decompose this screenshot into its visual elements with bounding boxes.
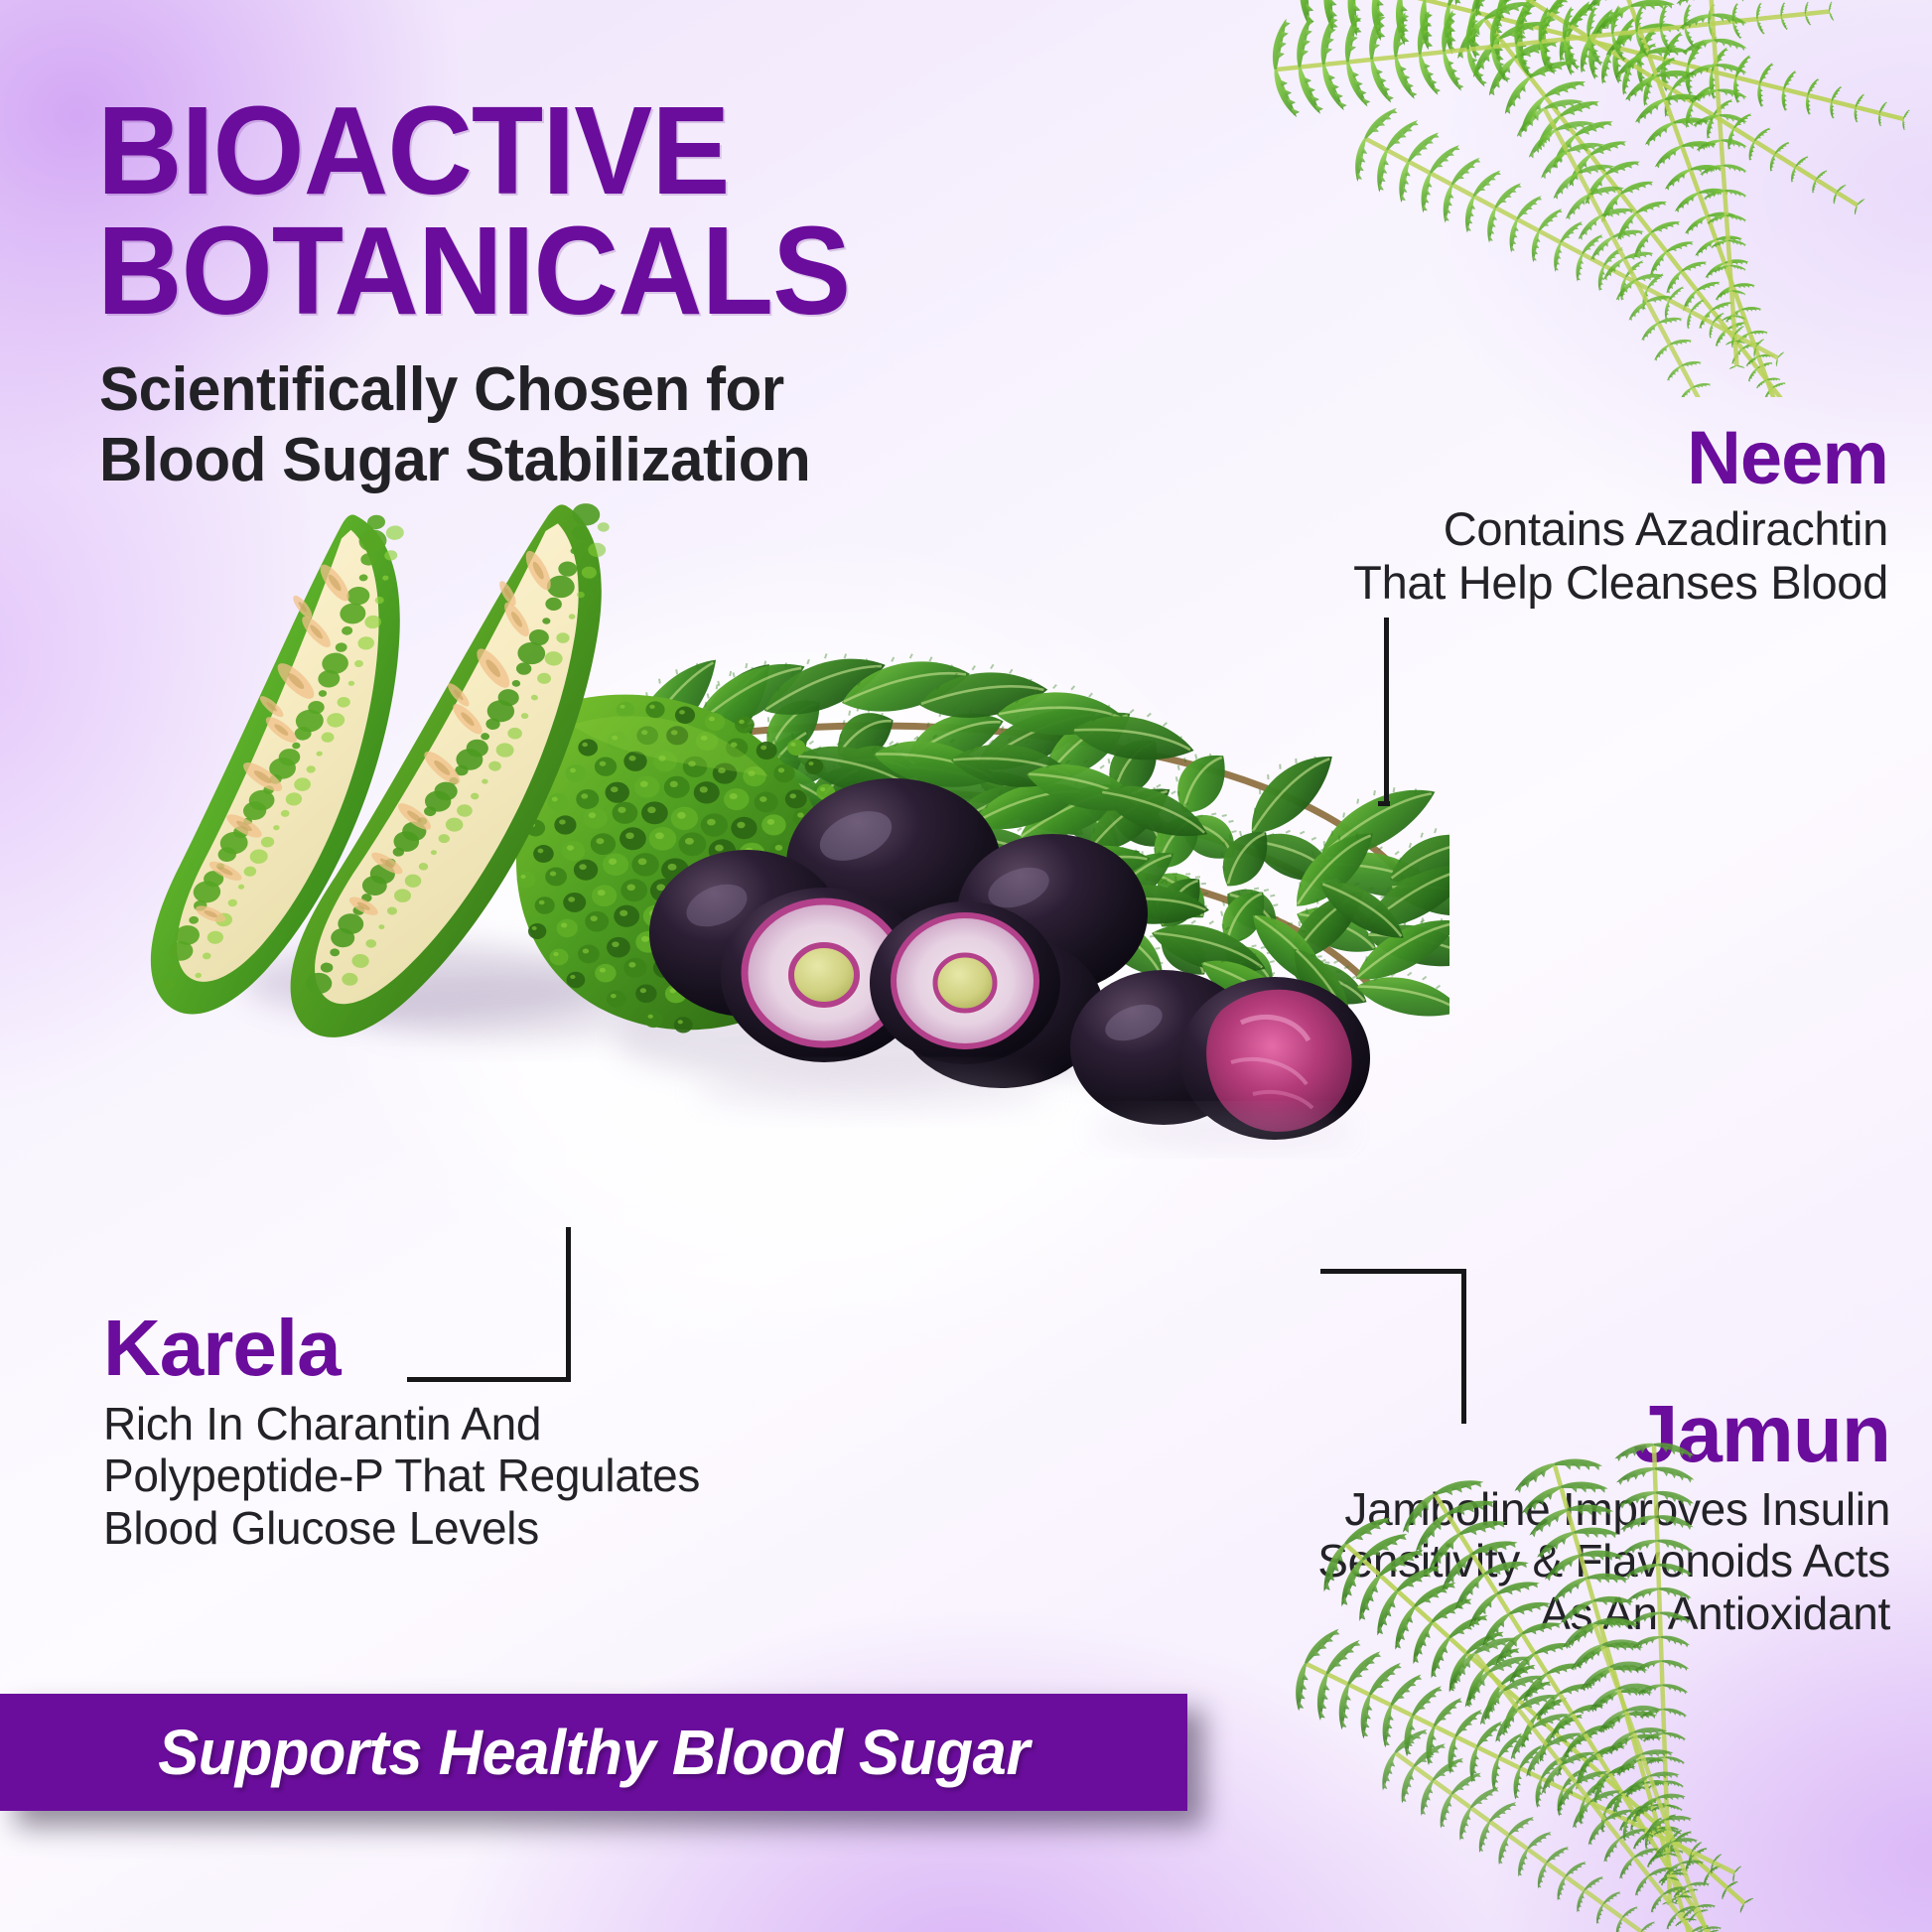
callout-neem: Neem Contains Azadirachtin That Help Cle… bbox=[1253, 421, 1888, 609]
callout-karela-desc-line-3: Blood Glucose Levels bbox=[103, 1502, 788, 1554]
callout-karela-description: Rich In Charantin And Polypeptide-P That… bbox=[103, 1398, 788, 1554]
callout-neem-title: Neem bbox=[1253, 421, 1888, 496]
callout-neem-description: Contains Azadirachtin That Help Cleanses… bbox=[1253, 502, 1888, 609]
callout-karela-desc-line-2: Polypeptide-P That Regulates bbox=[103, 1449, 788, 1501]
callout-neem-desc-line-1: Contains Azadirachtin bbox=[1253, 502, 1888, 556]
callout-jamun-desc-line-2: Sensitivity & Flavonoids Acts bbox=[1215, 1535, 1890, 1587]
supports-banner-text: Supports Healthy Blood Sugar bbox=[158, 1716, 1030, 1789]
headline-line-1: BIOACTIVE bbox=[97, 80, 729, 220]
callout-jamun-description: Jamboline Improves Insulin Sensitivity &… bbox=[1215, 1483, 1890, 1639]
subtitle-line-2: Blood Sugar Stabilization bbox=[99, 426, 1062, 496]
leader-line-karela-vertical bbox=[566, 1227, 571, 1382]
leader-line-jamun bbox=[1320, 1269, 1489, 1428]
infographic-canvas: BIOACTIVE BOTANICALS Scientifically Chos… bbox=[0, 0, 1932, 1932]
leader-line-neem bbox=[1378, 618, 1402, 812]
leader-line-jamun-vertical bbox=[1461, 1269, 1466, 1424]
callout-jamun: Jamun Jamboline Improves Insulin Sensiti… bbox=[1215, 1394, 1890, 1639]
leader-line-jamun-horizontal bbox=[1320, 1269, 1466, 1274]
fern-frond-decoration-top bbox=[1187, 0, 1932, 397]
callout-neem-desc-line-2: That Help Cleanses Blood bbox=[1253, 556, 1888, 610]
subtitle-line-1: Scientifically Chosen for bbox=[99, 355, 1062, 426]
callout-jamun-title: Jamun bbox=[1215, 1394, 1890, 1475]
callout-karela-desc-line-1: Rich In Charantin And bbox=[103, 1398, 788, 1449]
callout-jamun-desc-line-3: As An Antioxidant bbox=[1215, 1587, 1890, 1639]
page-subtitle: Scientifically Chosen for Blood Sugar St… bbox=[99, 355, 1062, 495]
headline-line-2: BOTANICALS bbox=[97, 211, 1143, 332]
supports-banner: Supports Healthy Blood Sugar bbox=[0, 1694, 1187, 1811]
leader-line-karela bbox=[389, 1227, 588, 1386]
leader-line-neem-vertical bbox=[1384, 618, 1389, 806]
page-title: BIOACTIVE BOTANICALS bbox=[97, 91, 1143, 332]
leader-line-karela-horizontal bbox=[407, 1377, 571, 1382]
leader-line-neem-horizontal bbox=[1378, 801, 1390, 806]
callout-jamun-desc-line-1: Jamboline Improves Insulin bbox=[1215, 1483, 1890, 1535]
